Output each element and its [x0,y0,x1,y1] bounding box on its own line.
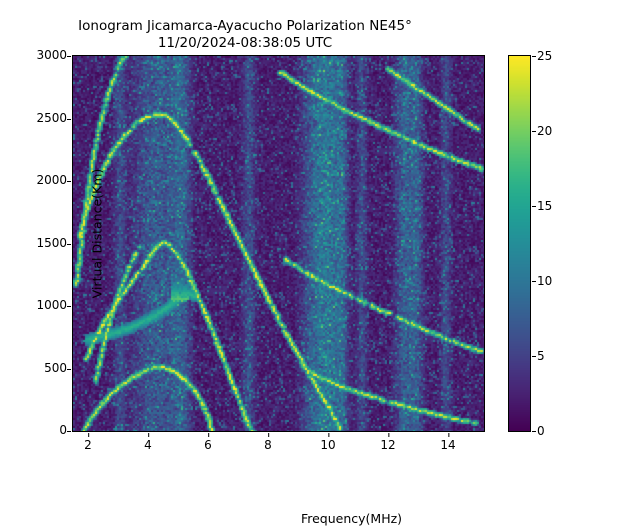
colorbar-tick-label-10: 10 [537,274,552,288]
y-tick-mark [67,431,71,432]
y-tick-label-0: 0 [7,423,67,437]
x-tick-mark [448,433,449,437]
y-tick-mark [67,306,71,307]
ionogram-heatmap [73,56,484,431]
colorbar-tick-mark [532,356,536,357]
y-tick-label-3000: 3000 [7,48,67,62]
y-tick-label-2500: 2500 [7,111,67,125]
colorbar-tick-mark [532,431,536,432]
colorbar-gradient [509,56,530,431]
x-tick-mark [268,433,269,437]
x-tick-mark [328,433,329,437]
colorbar-tick-mark [532,56,536,57]
colorbar-tick-mark [532,131,536,132]
y-tick-label-500: 500 [7,361,67,375]
colorbar-tick-mark [532,206,536,207]
x-tick-mark [208,433,209,437]
y-tick-mark [67,56,71,57]
y-tick-label-1500: 1500 [7,236,67,250]
y-tick-label-2000: 2000 [7,173,67,187]
y-tick-mark [67,369,71,370]
ionogram-figure: Ionogram Jicamarca-Ayacucho Polarization… [0,0,640,480]
x-axis-label: Frequency(MHz) [145,511,558,526]
colorbar-tick-label-0: 0 [537,424,545,438]
y-tick-mark [67,181,71,182]
x-tick-label-2: 2 [84,438,92,452]
colorbar-tick-label-25: 25 [537,49,552,63]
x-tick-label-10: 10 [320,438,335,452]
y-axis-label: Virtual Distance(Km) [90,84,105,384]
x-tick-mark [388,433,389,437]
x-tick-label-12: 12 [380,438,395,452]
colorbar-tick-mark [532,281,536,282]
x-tick-label-8: 8 [264,438,272,452]
colorbar-tick-label-5: 5 [537,349,545,363]
x-tick-label-14: 14 [440,438,455,452]
x-tick-label-4: 4 [144,438,152,452]
colorbar: SNR[dB] 0510152025 [508,55,531,432]
y-tick-label-1000: 1000 [7,298,67,312]
plot-area: Virtual Distance(Km) Frequency(MHz) 0500… [72,55,485,432]
x-tick-mark [148,433,149,437]
y-tick-mark [67,244,71,245]
chart-title: Ionogram Jicamarca-Ayacucho Polarization… [0,18,490,52]
y-tick-mark [67,119,71,120]
colorbar-tick-label-20: 20 [537,124,552,138]
x-tick-mark [88,433,89,437]
x-tick-label-6: 6 [204,438,212,452]
colorbar-tick-label-15: 15 [537,199,552,213]
